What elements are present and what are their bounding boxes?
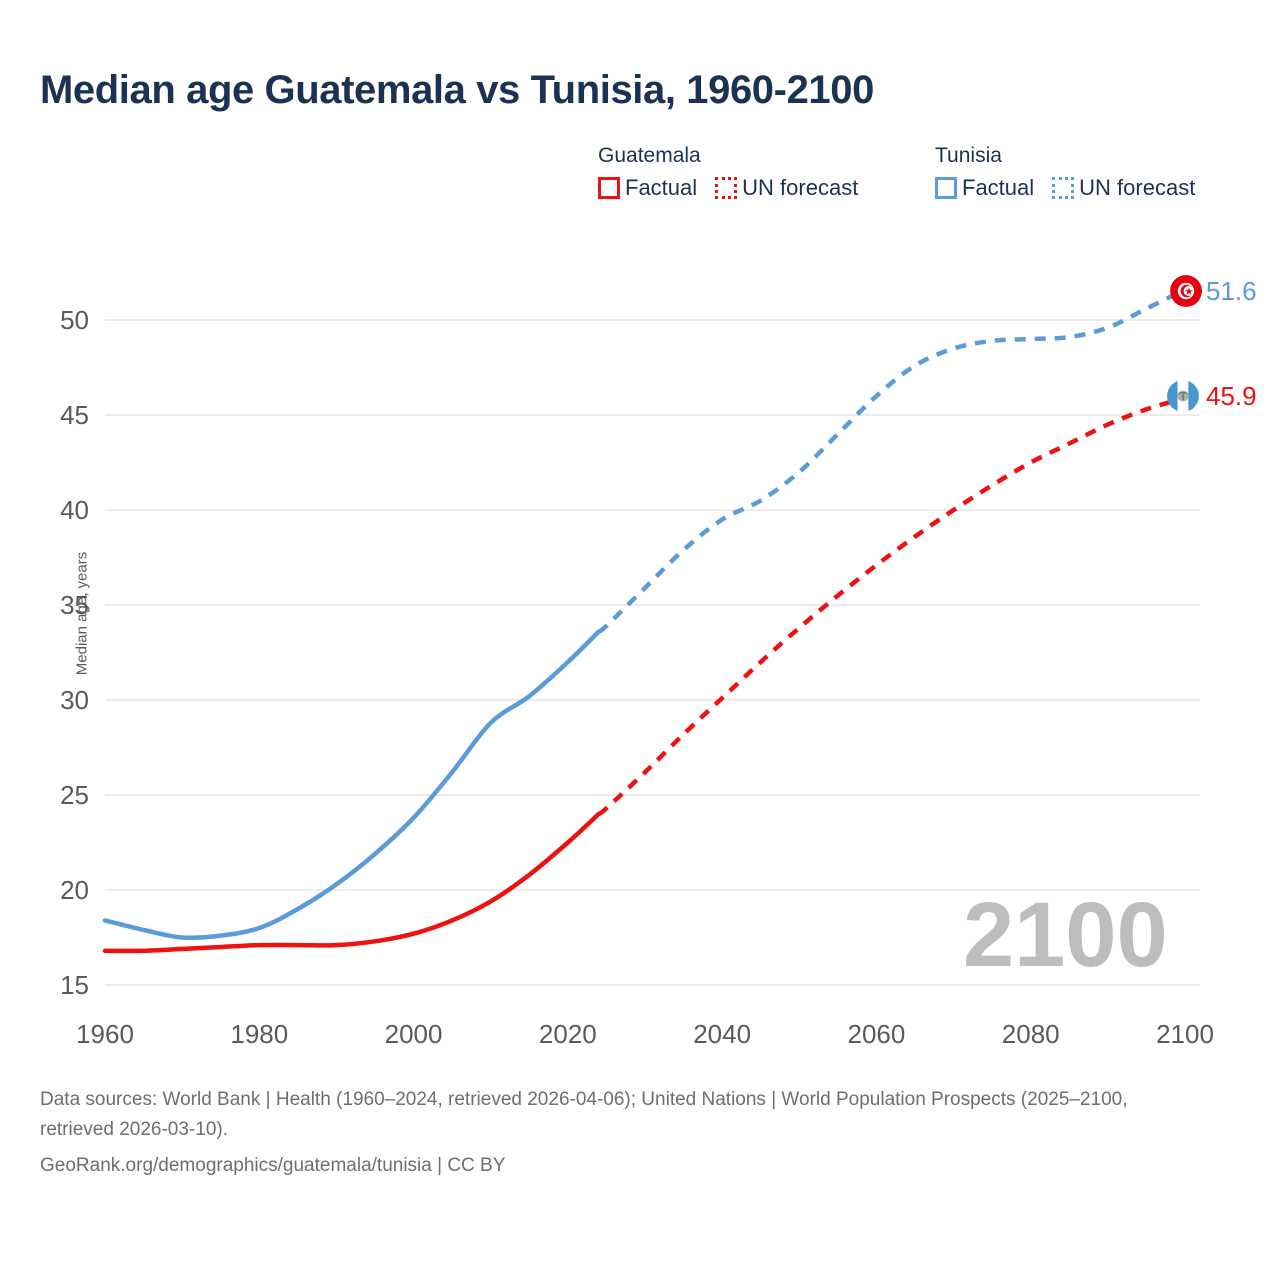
series-line-forecast-tunisia — [599, 290, 1185, 632]
footer-credit: GeoRank.org/demographics/guatemala/tunis… — [40, 1151, 1180, 1181]
y-tick-label: 15 — [60, 970, 89, 1000]
y-tick-label: 20 — [60, 875, 89, 905]
tunisia-end-value: 51.6 — [1206, 276, 1257, 307]
x-tick-label: 2100 — [1156, 1019, 1214, 1049]
chart-page: Median age Guatemala vs Tunisia, 1960-21… — [0, 0, 1280, 1280]
y-tick-label: 25 — [60, 780, 89, 810]
y-tick-label: 50 — [60, 305, 89, 335]
guatemala-flag-icon — [1167, 380, 1199, 412]
footer-sources: Data sources: World Bank | Health (1960–… — [40, 1085, 1180, 1145]
footer: Data sources: World Bank | Health (1960–… — [40, 1085, 1180, 1181]
series-lines — [105, 290, 1185, 951]
y-axis-title: Median age, years — [74, 514, 91, 714]
x-tick-label: 2080 — [1002, 1019, 1060, 1049]
x-tick-label: 2000 — [385, 1019, 443, 1049]
series-line-factual-guatemala — [105, 814, 599, 951]
y-tick-label: 45 — [60, 400, 89, 430]
x-tick-label: 1980 — [230, 1019, 288, 1049]
tunisia-flag-icon — [1170, 275, 1202, 307]
x-tick-label: 2060 — [848, 1019, 906, 1049]
year-watermark: 2100 — [963, 889, 1168, 981]
series-line-factual-tunisia — [105, 632, 599, 938]
x-tick-label: 2020 — [539, 1019, 597, 1049]
x-tick-label: 1960 — [76, 1019, 134, 1049]
x-axis-tick-labels: 19601980200020202040206020802100 — [76, 1019, 1214, 1049]
x-tick-label: 2040 — [693, 1019, 751, 1049]
guatemala-end-value: 45.9 — [1206, 381, 1257, 412]
